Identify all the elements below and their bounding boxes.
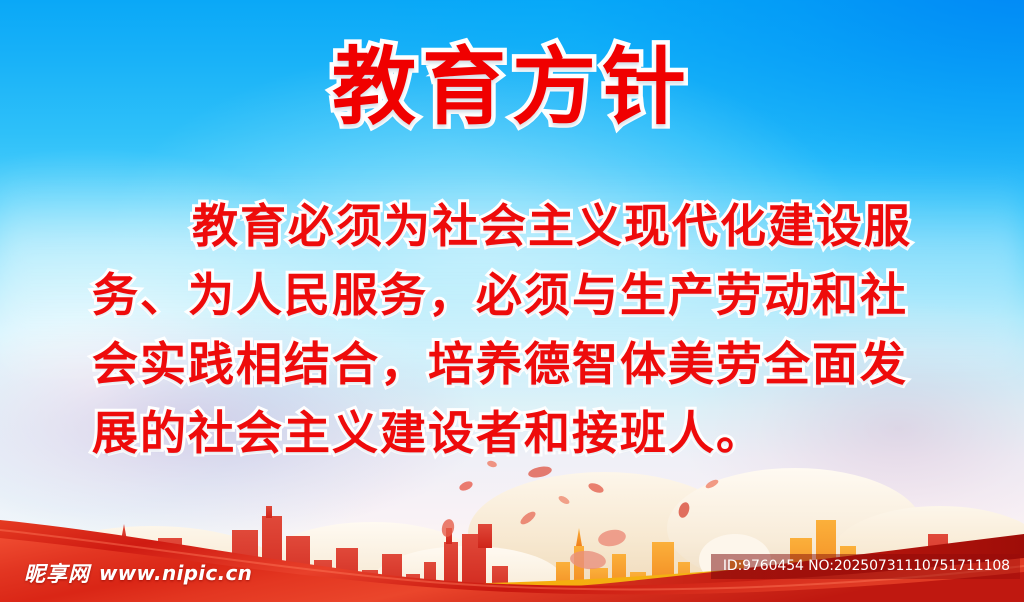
watermark-url: www.nipic.cn [99,561,252,585]
body-line-1: 教育必须为社会主义现代化建设服 [92,192,932,261]
watermark-site-name: 昵享网 [24,558,90,588]
poster-canvas: 教育方针 教育必须为社会主义现代化建设服 务、为人民服务，必须与生产劳动和社 会… [0,0,1024,602]
watermark: 昵享网 www.nipic.cn [24,558,252,588]
body-line-2: 务、为人民服务，必须与生产劳动和社 [92,261,932,330]
body-line-4: 展的社会主义建设者和接班人。 [92,399,932,468]
body-line-3: 会实践相结合，培养德智体美劳全面发 [92,330,932,399]
page-title: 教育方针 [0,42,1024,133]
image-id-badge: ID:9760454 NO:20250731110751711108 [711,554,1020,579]
body-paragraph: 教育必须为社会主义现代化建设服 务、为人民服务，必须与生产劳动和社 会实践相结合… [92,192,932,468]
poster-text-layer: 教育方针 教育必须为社会主义现代化建设服 务、为人民服务，必须与生产劳动和社 会… [0,0,1024,602]
